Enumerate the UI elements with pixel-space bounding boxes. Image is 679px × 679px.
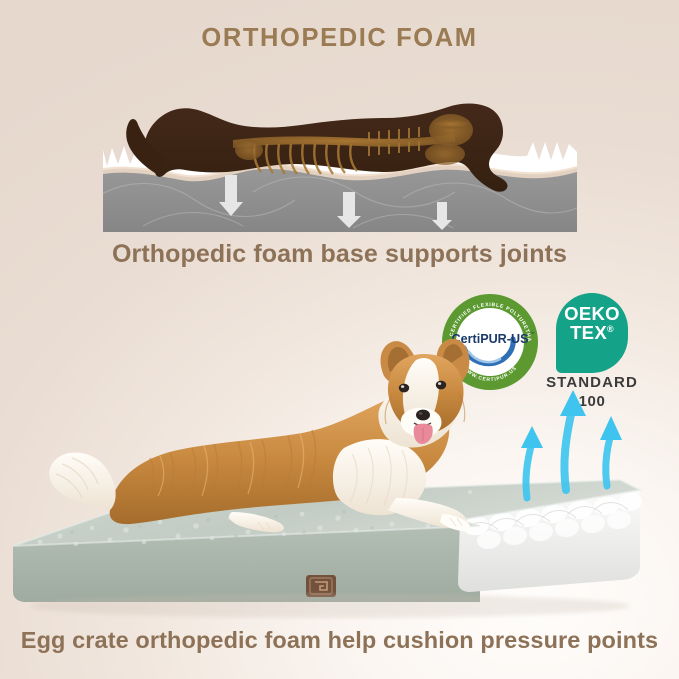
brand-logo-patch — [306, 575, 336, 597]
page-title: ORTHOPEDIC FOAM — [0, 24, 679, 53]
dog-eye-right — [436, 381, 446, 390]
bed-shadow — [30, 594, 630, 618]
dog-nose — [416, 410, 430, 421]
dog-eye-left — [399, 384, 409, 393]
infographic-canvas: ORTHOPEDIC FOAM — [0, 0, 679, 679]
dog-tail — [49, 452, 115, 510]
airflow-arrow — [600, 416, 622, 486]
orthopedic-support-diagram — [103, 80, 577, 235]
bottom-caption: Egg crate orthopedic foam help cushion p… — [0, 627, 679, 654]
top-caption: Orthopedic foam base supports joints — [0, 240, 679, 269]
dog — [49, 339, 470, 532]
airflow-arrow — [560, 390, 586, 490]
dog-bed-scene — [0, 330, 679, 630]
